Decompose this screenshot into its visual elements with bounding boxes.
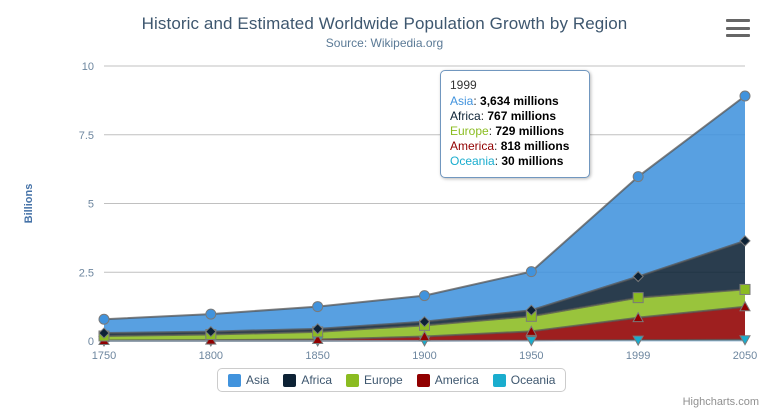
marker-asia-1950[interactable] <box>526 267 536 277</box>
tooltip-row-africa: Africa: 767 millions <box>450 109 580 124</box>
x-tick-1900: 1900 <box>412 350 436 362</box>
legend-label-oceania: Oceania <box>511 373 556 387</box>
marker-europe-1999[interactable] <box>633 293 643 303</box>
tooltip-rows: Asia: 3,634 millionsAfrica: 767 millions… <box>450 94 580 169</box>
tooltip-separator: : <box>473 94 480 108</box>
legend-label-asia: Asia <box>246 373 269 387</box>
y-axis-title: Billions <box>23 184 35 224</box>
highcharts-chart-container: Historic and Estimated Worldwide Populat… <box>0 0 769 416</box>
x-tick-1950: 1950 <box>519 350 543 362</box>
tooltip-series-name: Oceania <box>450 154 495 168</box>
marker-asia-2050[interactable] <box>740 91 750 101</box>
tooltip-row-america: America: 818 millions <box>450 139 580 154</box>
highcharts-credit-link[interactable]: Highcharts.com <box>683 396 759 408</box>
legend-swatch-europe-icon <box>346 374 359 387</box>
x-tick-1850: 1850 <box>305 350 329 362</box>
marker-asia-1999[interactable] <box>633 172 643 182</box>
legend-item-america[interactable]: America <box>417 373 479 387</box>
y-tick-7.5: 7.5 <box>79 130 94 142</box>
x-tick-2050: 2050 <box>733 350 757 362</box>
x-tick-1800: 1800 <box>199 350 223 362</box>
tooltip-series-value: 767 millions <box>487 109 556 123</box>
y-axis-tick-labels: 02.557.510 <box>79 61 94 348</box>
x-tick-1999: 1999 <box>626 350 650 362</box>
tooltip-series-value: 818 millions <box>501 139 570 153</box>
y-axis-title-text: Billions <box>23 184 35 224</box>
y-tick-0: 0 <box>88 336 94 348</box>
x-axis-tick-labels: 1750180018501900195019992050 <box>92 350 757 362</box>
marker-asia-1750[interactable] <box>99 314 109 324</box>
legend-item-europe[interactable]: Europe <box>346 373 403 387</box>
tooltip-series-name: Asia <box>450 94 473 108</box>
tooltip-row-europe: Europe: 729 millions <box>450 124 580 139</box>
y-tick-10: 10 <box>82 61 94 73</box>
marker-asia-1800[interactable] <box>206 309 216 319</box>
y-tick-2.5: 2.5 <box>79 267 94 279</box>
marker-europe-2050[interactable] <box>740 284 750 294</box>
legend-item-oceania[interactable]: Oceania <box>493 373 556 387</box>
tooltip-series-name: Africa <box>450 109 481 123</box>
chart-tooltip: 1999 Asia: 3,634 millionsAfrica: 767 mil… <box>440 70 590 178</box>
chart-legend: AsiaAfricaEuropeAmericaOceania <box>217 368 566 392</box>
legend-swatch-america-icon <box>417 374 430 387</box>
legend-swatch-africa-icon <box>283 374 296 387</box>
legend-label-africa: Africa <box>301 373 332 387</box>
legend-label-america: America <box>435 373 479 387</box>
legend-swatch-asia-icon <box>228 374 241 387</box>
tooltip-series-name: Europe <box>450 124 489 138</box>
tooltip-separator: : <box>494 139 501 153</box>
series-areas-group <box>104 96 745 341</box>
marker-asia-1900[interactable] <box>420 291 430 301</box>
y-tick-5: 5 <box>88 199 94 211</box>
tooltip-series-value: 30 millions <box>501 154 563 168</box>
tooltip-row-oceania: Oceania: 30 millions <box>450 154 580 169</box>
chart-plot-area: 02.557.510 1750180018501900195019992050 … <box>0 0 769 416</box>
tooltip-series-value: 729 millions <box>495 124 564 138</box>
tooltip-header: 1999 <box>450 78 580 92</box>
tooltip-row-asia: Asia: 3,634 millions <box>450 94 580 109</box>
legend-item-asia[interactable]: Asia <box>228 373 269 387</box>
legend-swatch-oceania-icon <box>493 374 506 387</box>
legend-item-africa[interactable]: Africa <box>283 373 332 387</box>
legend-label-europe: Europe <box>364 373 403 387</box>
x-tick-1750: 1750 <box>92 350 116 362</box>
marker-asia-1850[interactable] <box>313 302 323 312</box>
tooltip-series-name: America <box>450 139 494 153</box>
tooltip-series-value: 3,634 millions <box>480 94 559 108</box>
